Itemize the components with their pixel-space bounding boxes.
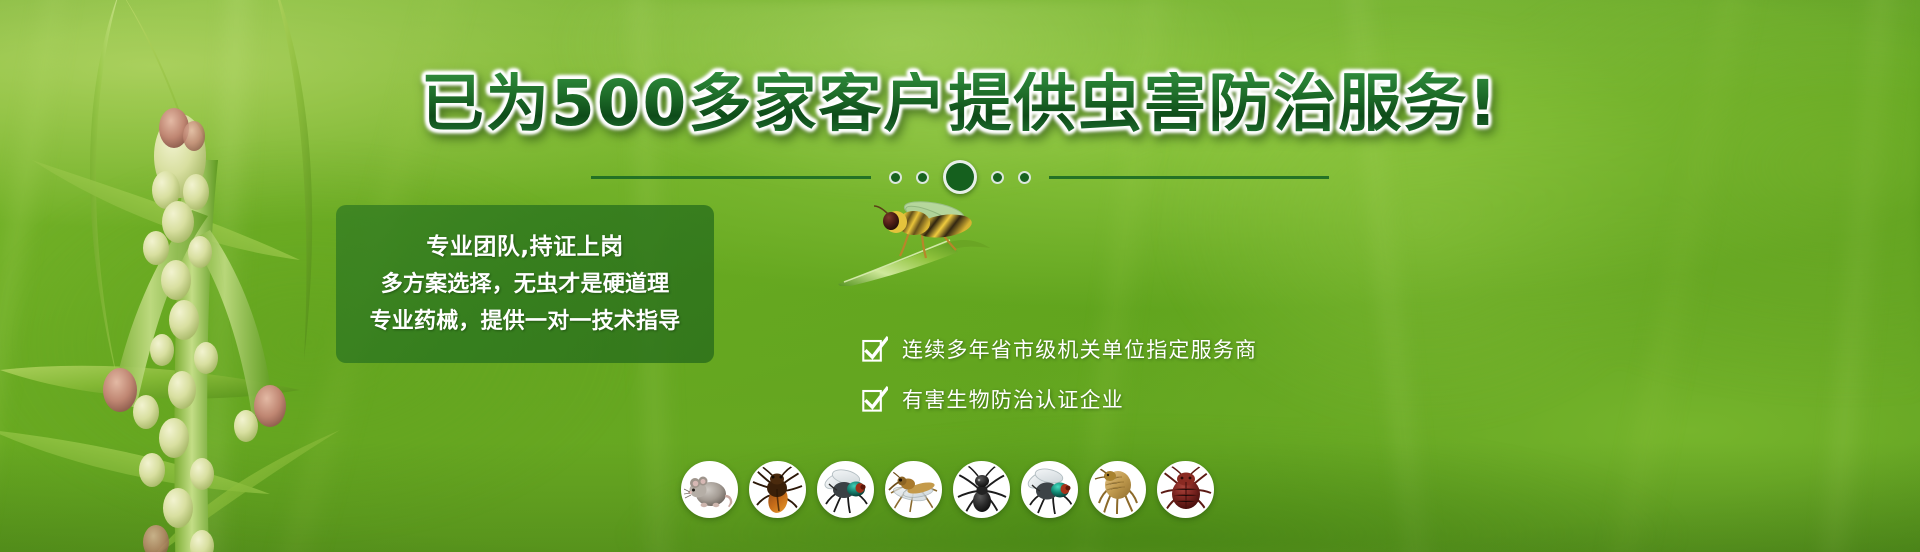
list-item-label: 有害生物防治认证企业 [902, 384, 1124, 414]
pest-circle[interactable] [749, 461, 806, 518]
pest-circle[interactable] [953, 461, 1010, 518]
list-item-label: 连续多年省市级机关单位指定服务商 [902, 334, 1257, 364]
divider-dot-group [871, 160, 1049, 194]
checkbox-checked-icon [862, 336, 888, 362]
mosquito-icon [888, 464, 940, 516]
cockroach-icon [752, 464, 804, 516]
pest-circle[interactable] [817, 461, 874, 518]
credentials-list: 连续多年省市级机关单位指定服务商 有害生物防治认证企业 [862, 334, 1257, 414]
headline-container: 已为500多家客户提供虫害防治服务! [0, 72, 1920, 135]
blowfly-icon [1024, 464, 1076, 516]
mouse-icon [684, 464, 736, 516]
hoverfly-on-stem-decoration [838, 196, 998, 286]
divider-dot-small [889, 171, 902, 184]
pest-control-hero-banner: 已为500多家客户提供虫害防治服务! 专业团队,持证上岗 多方案选择，无虫才是硬… [0, 0, 1920, 552]
pest-circle[interactable] [1157, 461, 1214, 518]
bedbug-icon [1160, 464, 1212, 516]
divider-dot-small [916, 171, 929, 184]
fly-icon [820, 464, 872, 516]
pest-circle[interactable] [885, 461, 942, 518]
pest-icon-strip [681, 461, 1214, 518]
page-title: 已为500多家客户提供虫害防治服务! [421, 72, 1499, 135]
checkbox-checked-icon [862, 386, 888, 412]
divider-dot-small [991, 171, 1004, 184]
list-item: 连续多年省市级机关单位指定服务商 [862, 334, 1257, 364]
ant-icon [956, 464, 1008, 516]
feature-line-3: 专业药械，提供一对一技术指导 [370, 310, 681, 333]
flea-icon [1092, 464, 1144, 516]
divider-dot-small [1018, 171, 1031, 184]
divider-line-right [1049, 176, 1329, 179]
pest-circle[interactable] [1021, 461, 1078, 518]
feature-highlight-box: 专业团队,持证上岗 多方案选择，无虫才是硬道理 专业药械，提供一对一技术指导 [336, 205, 714, 363]
divider-dot-large [943, 160, 977, 194]
decorative-divider [0, 160, 1920, 194]
divider-line-left [591, 176, 871, 179]
pest-circle[interactable] [1089, 461, 1146, 518]
pest-circle[interactable] [681, 461, 738, 518]
list-item: 有害生物防治认证企业 [862, 384, 1257, 414]
feature-line-1: 专业团队,持证上岗 [426, 235, 623, 259]
feature-line-2: 多方案选择，无虫才是硬道理 [381, 273, 670, 296]
